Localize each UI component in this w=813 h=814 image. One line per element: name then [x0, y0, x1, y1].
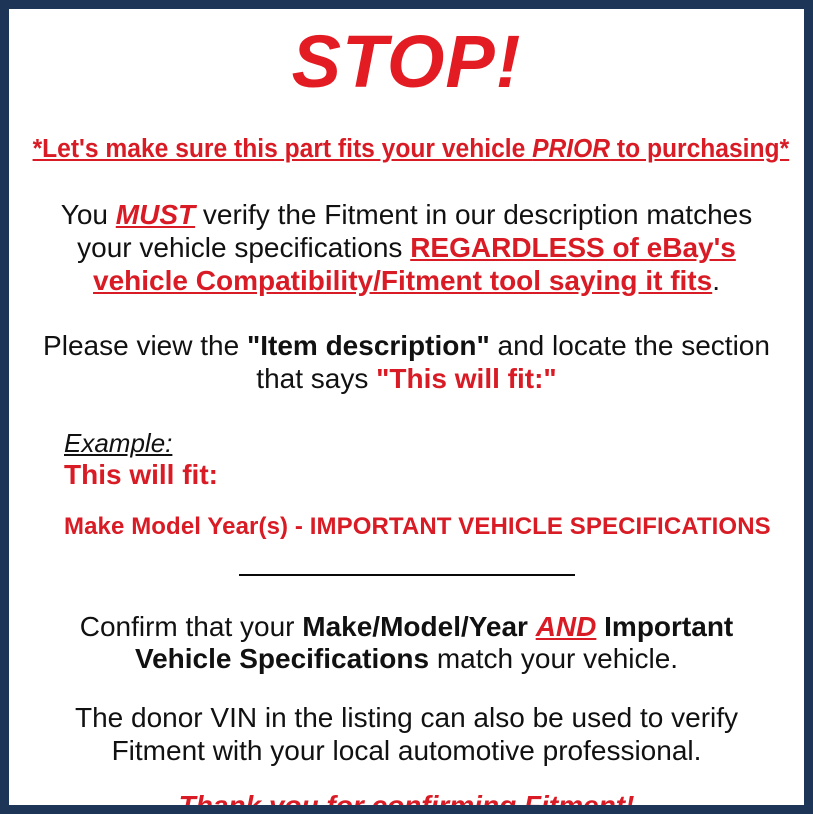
- example-this-will-fit-heading: This will fit:: [64, 459, 794, 491]
- this-will-fit-quote: "This will fit:": [376, 363, 557, 394]
- example-label: Example:: [64, 430, 172, 457]
- notice-canvas: STOP! *Let's make sure this part fits yo…: [9, 25, 804, 814]
- paragraph-donor-vin: The donor VIN in the listing can also be…: [19, 702, 794, 768]
- paragraph-confirm: Confirm that your Make/Model/Year AND Im…: [19, 611, 794, 677]
- item-description-quote: "Item description": [247, 330, 490, 361]
- example-label-row: Example:: [64, 430, 794, 457]
- confirm-and-emphasis: AND: [536, 611, 597, 642]
- paragraph-item-description: Please view the "Item description" and l…: [19, 330, 794, 396]
- example-block: Example: This will fit: Make Model Year(…: [19, 430, 794, 541]
- fitment-notice-card: STOP! *Let's make sure this part fits yo…: [0, 0, 813, 814]
- must-tail-text: .: [712, 265, 720, 296]
- divider-wrap: [19, 567, 794, 585]
- description-lead-text: Please view the: [43, 330, 247, 361]
- page-title: STOP!: [19, 25, 794, 99]
- subtitle-emphasis-prior: PRIOR: [532, 135, 610, 163]
- example-spec-line: Make Model Year(s) - IMPORTANT VEHICLE S…: [64, 514, 794, 540]
- must-emphasis: MUST: [116, 199, 195, 230]
- subtitle-prefix: *Let's make sure this part fits your veh…: [33, 135, 533, 163]
- confirm-make-model-year: Make/Model/Year: [302, 611, 528, 642]
- must-lead-text: You: [61, 199, 116, 230]
- subtitle-banner: *Let's make sure this part fits your veh…: [33, 135, 781, 163]
- paragraph-must-verify: You MUST verify the Fitment in our descr…: [19, 199, 794, 297]
- closing-thank-you: Thank you for confirming Fitment!: [19, 790, 794, 814]
- confirm-lead-text: Confirm that your: [80, 611, 303, 642]
- subtitle-suffix: to purchasing*: [610, 135, 789, 163]
- horizontal-divider: [239, 574, 575, 576]
- confirm-tail-text: match your vehicle.: [429, 643, 678, 674]
